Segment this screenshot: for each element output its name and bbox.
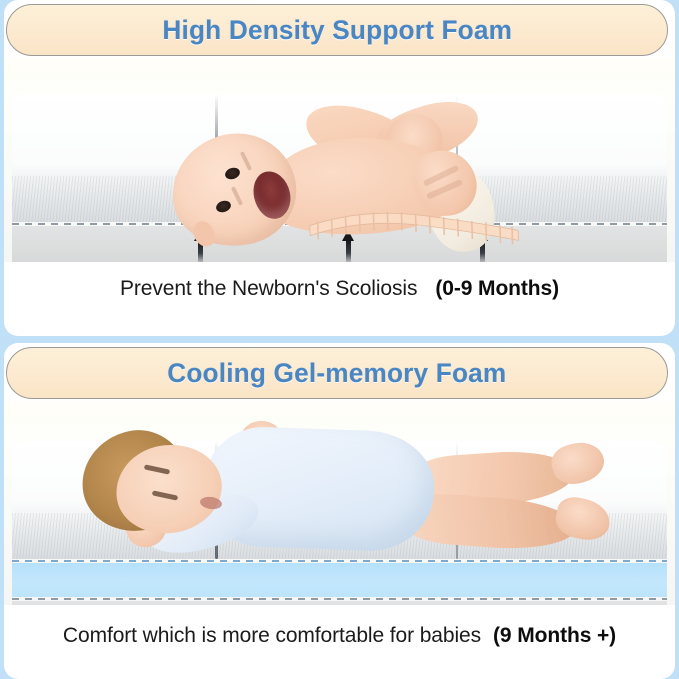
panel-2-caption: Comfort which is more comfortable for ba… [4,609,675,663]
panel-1-title: High Density Support Foam [162,15,512,46]
panel-2-age-range: (9 Months +) [493,624,616,648]
layer-support-foam [12,601,667,605]
upward-support-arrow [342,230,355,262]
panel-cooling-gel-memory-foam: Cooling Gel-memory Foam [4,343,675,679]
panel-1-photo-stage [4,58,675,262]
panel-2-title-banner: Cooling Gel-memory Foam [6,347,668,399]
panel-1-title-banner: High Density Support Foam [6,4,668,56]
panel-1-caption: Prevent the Newborn's Scoliosis (0-9 Mon… [4,262,675,316]
panel-1-age-range: (0-9 Months) [435,277,559,301]
layer-cooling-gel [12,563,667,597]
panel-high-density-support-foam: High Density Support Foam [4,0,675,336]
panel-1-caption-text: Prevent the Newborn's Scoliosis [120,277,417,301]
panel-2-photo-stage [4,401,675,605]
infographic-page: High Density Support Foam [0,0,679,679]
panel-2-title: Cooling Gel-memory Foam [167,358,506,389]
panel-2-caption-text: Comfort which is more comfortable for ba… [63,624,481,648]
